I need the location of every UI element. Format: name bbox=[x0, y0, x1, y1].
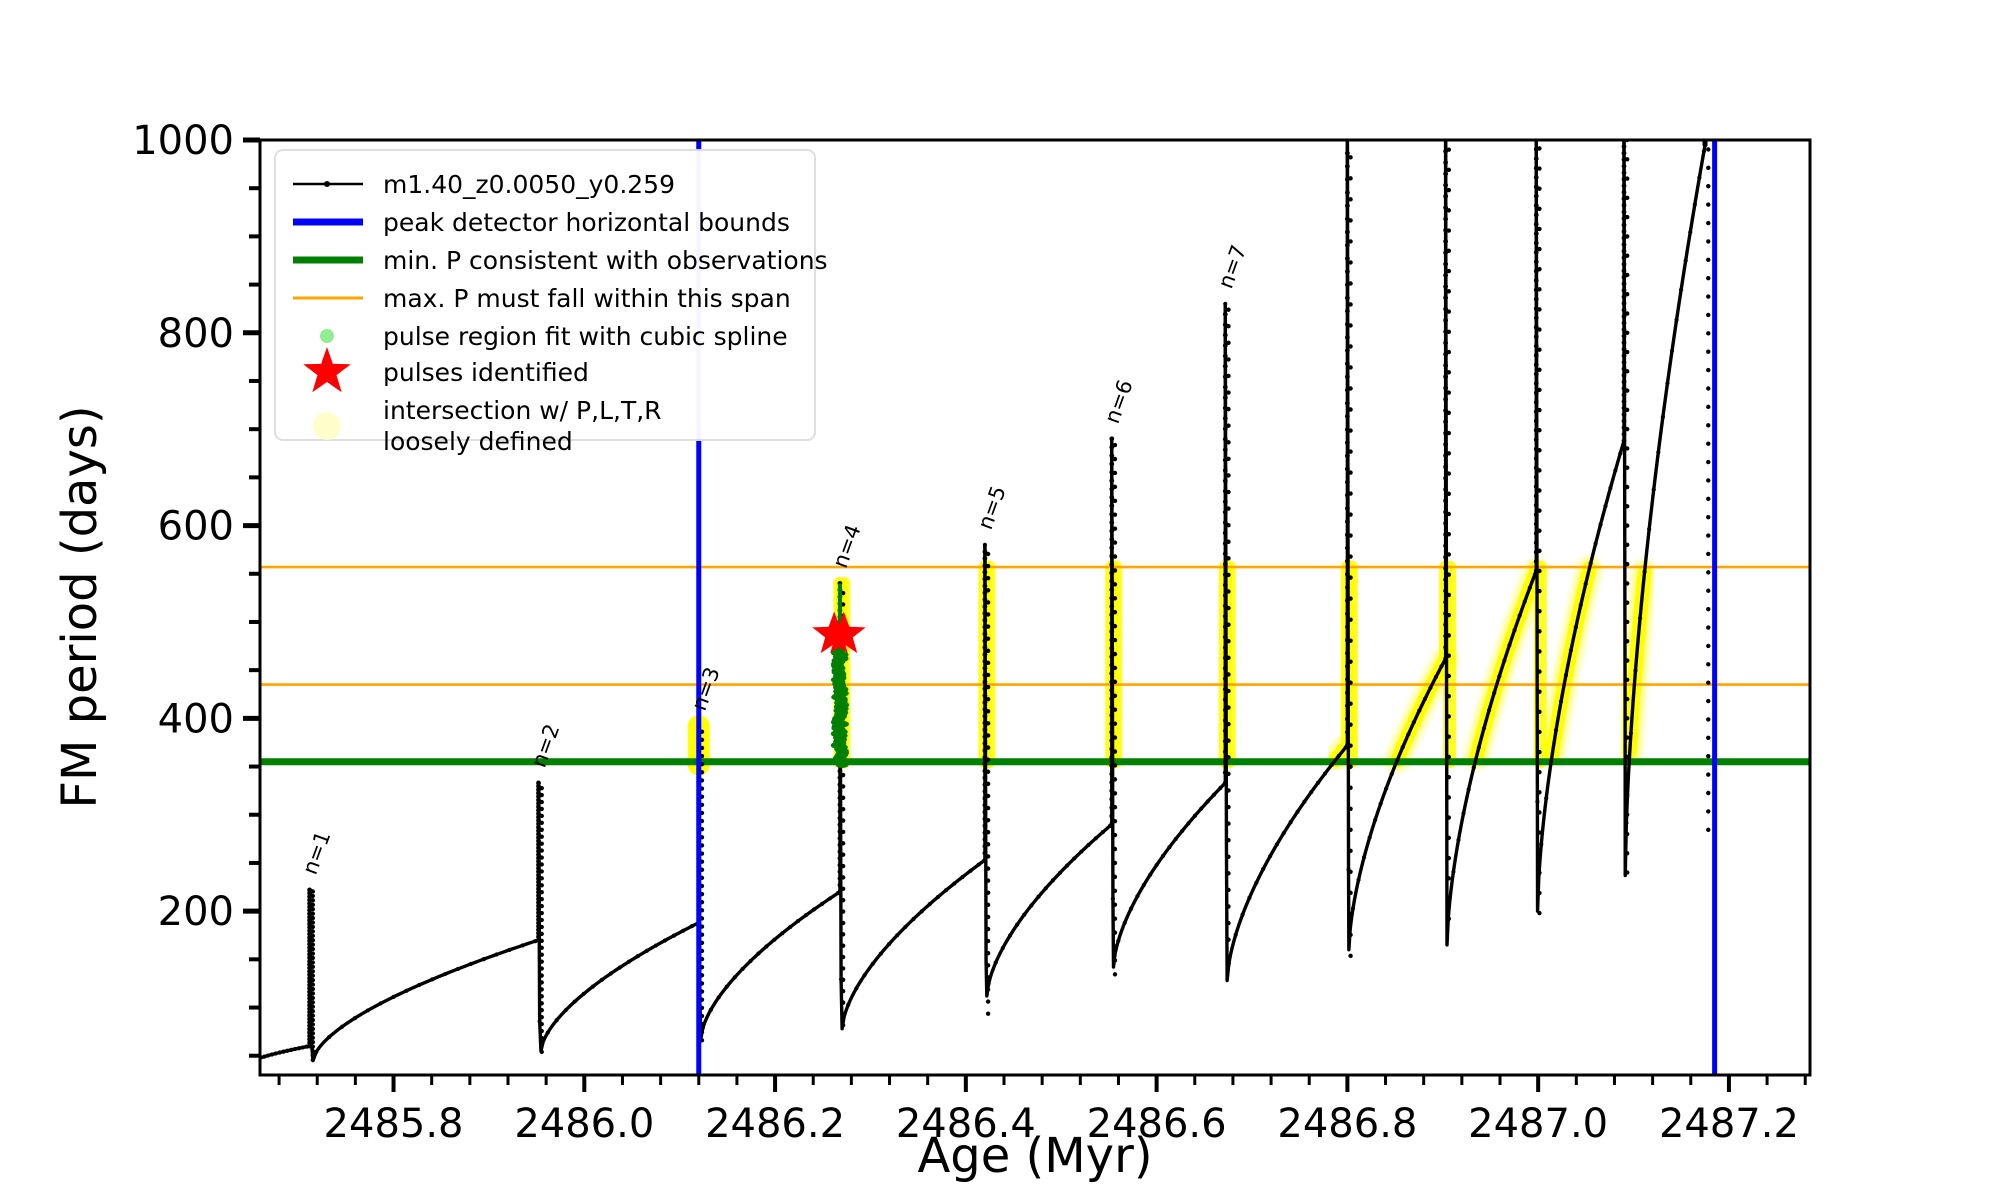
track-point bbox=[1622, 151, 1627, 156]
track-point bbox=[1447, 249, 1451, 253]
track-point bbox=[1113, 610, 1117, 614]
track-point bbox=[1661, 415, 1665, 419]
track-point bbox=[311, 907, 315, 911]
track-point bbox=[1625, 813, 1629, 817]
track-point bbox=[1706, 736, 1710, 740]
track-point bbox=[540, 786, 544, 790]
legend-marker-dot bbox=[320, 329, 334, 343]
track-point bbox=[986, 866, 990, 870]
track-point bbox=[1693, 202, 1697, 206]
track-point bbox=[1625, 331, 1629, 335]
track-point bbox=[311, 1018, 315, 1022]
track-point bbox=[311, 898, 315, 902]
legend-label[interactable]: pulse region fit with cubic spline bbox=[383, 322, 788, 351]
track-point bbox=[1706, 607, 1710, 611]
track-point bbox=[748, 959, 752, 963]
track-point bbox=[983, 714, 988, 719]
track-point bbox=[1135, 894, 1139, 898]
track-point bbox=[1625, 581, 1629, 585]
track-point bbox=[986, 661, 990, 665]
track-point bbox=[1226, 324, 1230, 328]
track-point bbox=[1447, 815, 1451, 819]
track-point bbox=[1625, 408, 1629, 412]
track-point bbox=[1434, 675, 1438, 679]
track-point bbox=[618, 965, 622, 969]
track-point bbox=[1109, 436, 1114, 441]
track-point bbox=[812, 907, 816, 911]
legend-marker-dot bbox=[324, 181, 330, 187]
track-point bbox=[540, 918, 544, 922]
legend-label[interactable]: peak detector horizontal bounds bbox=[383, 208, 790, 237]
track-point bbox=[520, 943, 524, 947]
track-point bbox=[311, 969, 315, 973]
track-point bbox=[1625, 311, 1629, 315]
track-point bbox=[1337, 754, 1341, 758]
track-point bbox=[1537, 669, 1541, 673]
track-point bbox=[278, 1050, 282, 1054]
track-point bbox=[1534, 503, 1539, 508]
track-point bbox=[977, 862, 981, 866]
track-point bbox=[1345, 374, 1350, 379]
track-point bbox=[1223, 447, 1228, 452]
track-point bbox=[1226, 805, 1230, 809]
track-point bbox=[1186, 821, 1190, 825]
track-point bbox=[1684, 258, 1688, 262]
track-point bbox=[983, 700, 988, 705]
track-point bbox=[1447, 269, 1451, 273]
track-point bbox=[353, 1016, 357, 1020]
track-point bbox=[1109, 730, 1114, 735]
track-point bbox=[1625, 253, 1629, 257]
track-point bbox=[1613, 468, 1617, 472]
track-point bbox=[1348, 407, 1352, 411]
track-point bbox=[311, 1049, 315, 1053]
track-point bbox=[311, 894, 315, 898]
track-point bbox=[1109, 520, 1114, 525]
track-point bbox=[1447, 228, 1451, 232]
track-point bbox=[1348, 659, 1352, 663]
track-point bbox=[1109, 503, 1114, 508]
track-point bbox=[1348, 554, 1352, 558]
track-point bbox=[1622, 288, 1627, 293]
track-point bbox=[1670, 349, 1674, 353]
track-point bbox=[1652, 487, 1656, 491]
track-point bbox=[841, 841, 845, 845]
track-point bbox=[1226, 904, 1230, 908]
track-point bbox=[1058, 871, 1062, 875]
track-point bbox=[311, 1031, 315, 1035]
track-point bbox=[540, 953, 544, 957]
track-point bbox=[1345, 453, 1350, 458]
track-point bbox=[1534, 512, 1539, 517]
track-point bbox=[1622, 268, 1627, 273]
track-point bbox=[1633, 669, 1637, 673]
track-point bbox=[709, 1008, 713, 1012]
track-point bbox=[1109, 671, 1114, 676]
track-point bbox=[1625, 504, 1629, 508]
track-point bbox=[1534, 344, 1539, 349]
track-point bbox=[986, 636, 990, 640]
track-point bbox=[1537, 871, 1541, 875]
track-point bbox=[1223, 333, 1228, 338]
track-point bbox=[540, 828, 544, 832]
track-point bbox=[1537, 488, 1541, 492]
track-point bbox=[986, 733, 990, 737]
track-point bbox=[1447, 451, 1451, 455]
track-point bbox=[756, 951, 760, 955]
track-point bbox=[1223, 416, 1228, 421]
track-point bbox=[1226, 705, 1230, 709]
track-point bbox=[1534, 400, 1539, 405]
track-point bbox=[983, 652, 988, 657]
track-point bbox=[564, 1008, 568, 1012]
track-point bbox=[920, 909, 924, 913]
track-point bbox=[1447, 593, 1451, 597]
track-point bbox=[1447, 775, 1451, 779]
track-point bbox=[1625, 176, 1629, 180]
track-point bbox=[1395, 758, 1399, 762]
track-point bbox=[1223, 499, 1228, 504]
track-point bbox=[690, 924, 694, 928]
track-point bbox=[1022, 913, 1026, 917]
track-point bbox=[1247, 896, 1251, 900]
track-point bbox=[1625, 196, 1629, 200]
track-point bbox=[1316, 781, 1320, 785]
track-point bbox=[1348, 870, 1352, 874]
track-point bbox=[1113, 889, 1117, 893]
x-tick-label: 2486.2 bbox=[705, 1101, 845, 1147]
track-point bbox=[1443, 386, 1448, 391]
track-point bbox=[1706, 699, 1710, 703]
track-point bbox=[1706, 828, 1710, 832]
track-point bbox=[1345, 625, 1350, 630]
track-point bbox=[1226, 639, 1230, 643]
track-point bbox=[1345, 309, 1350, 314]
track-point bbox=[1447, 694, 1451, 698]
track-point bbox=[1443, 397, 1448, 402]
track-point bbox=[1223, 749, 1228, 754]
legend-label[interactable]: max. P must fall within this span bbox=[383, 284, 791, 313]
track-point bbox=[1625, 600, 1629, 604]
track-point bbox=[1537, 247, 1541, 251]
track-point bbox=[600, 978, 604, 982]
track-point bbox=[573, 999, 577, 1003]
track-point bbox=[469, 962, 473, 966]
track-point bbox=[1226, 739, 1230, 743]
track-point bbox=[1447, 755, 1451, 759]
track-point bbox=[1706, 368, 1710, 372]
track-point bbox=[1226, 689, 1230, 693]
track-point bbox=[1537, 468, 1541, 472]
track-point bbox=[1443, 363, 1448, 368]
track-point bbox=[1226, 357, 1230, 361]
chart-legend[interactable]: m1.40_z0.0050_y0.259peak detector horizo… bbox=[275, 150, 828, 456]
track-point bbox=[1015, 923, 1019, 927]
track-point bbox=[1109, 545, 1114, 550]
track-point bbox=[1348, 281, 1352, 285]
track-point bbox=[301, 1045, 305, 1049]
legend-label-line2[interactable]: loosely defined bbox=[383, 427, 573, 456]
track-point bbox=[1223, 479, 1228, 484]
track-point bbox=[854, 986, 858, 990]
track-point bbox=[1226, 821, 1230, 825]
track-point bbox=[983, 727, 988, 732]
track-point bbox=[1549, 760, 1553, 764]
track-point bbox=[983, 837, 988, 842]
track-point bbox=[1706, 386, 1710, 390]
track-point bbox=[841, 898, 845, 902]
track-point bbox=[841, 818, 845, 822]
track-point bbox=[1226, 490, 1230, 494]
track-point bbox=[1537, 730, 1541, 734]
track-point bbox=[1544, 796, 1548, 800]
track-point bbox=[1625, 543, 1629, 547]
track-point bbox=[1226, 523, 1230, 527]
legend-label[interactable]: min. P consistent with observations bbox=[383, 246, 828, 275]
track-point bbox=[1625, 716, 1629, 720]
track-point bbox=[1447, 836, 1451, 840]
track-point bbox=[311, 978, 315, 982]
track-point bbox=[1109, 755, 1114, 760]
track-point bbox=[1523, 599, 1527, 603]
track-point bbox=[1223, 593, 1228, 598]
track-point bbox=[1534, 156, 1539, 161]
track-point bbox=[1417, 708, 1421, 712]
track-point bbox=[456, 967, 460, 971]
track-point bbox=[507, 948, 511, 952]
track-point bbox=[1447, 188, 1451, 192]
track-point bbox=[841, 1012, 845, 1016]
track-point bbox=[838, 769, 843, 774]
track-point bbox=[1447, 613, 1451, 617]
track-point bbox=[1123, 921, 1127, 925]
track-point bbox=[788, 925, 792, 929]
track-point bbox=[1113, 624, 1117, 628]
track-point bbox=[1622, 229, 1627, 234]
track-point bbox=[1113, 916, 1117, 920]
track-point bbox=[1706, 294, 1710, 298]
track-point bbox=[1348, 596, 1352, 600]
track-point bbox=[987, 982, 991, 986]
track-point bbox=[430, 977, 434, 981]
track-point bbox=[1223, 666, 1228, 671]
track-point bbox=[1223, 531, 1228, 536]
track-point bbox=[1356, 878, 1360, 882]
track-point bbox=[804, 913, 808, 917]
track-point bbox=[1226, 424, 1230, 428]
track-point bbox=[838, 802, 843, 807]
track-point bbox=[645, 949, 649, 953]
track-point bbox=[1625, 639, 1629, 643]
track-point bbox=[1507, 643, 1511, 647]
track-point bbox=[1706, 184, 1710, 188]
track-point bbox=[1451, 870, 1455, 874]
track-point bbox=[540, 841, 544, 845]
track-point bbox=[311, 938, 315, 942]
track-point bbox=[1625, 215, 1629, 219]
track-point bbox=[1589, 561, 1593, 565]
track-point bbox=[1348, 176, 1352, 180]
track-point bbox=[1537, 327, 1541, 331]
track-point bbox=[327, 1035, 331, 1039]
track-point bbox=[1113, 805, 1117, 809]
track-point bbox=[986, 915, 990, 919]
track-point bbox=[1226, 307, 1230, 311]
track-point bbox=[266, 1053, 270, 1057]
track-point bbox=[1492, 691, 1496, 695]
track-point bbox=[983, 693, 988, 698]
track-point bbox=[986, 830, 990, 834]
track-point bbox=[379, 1001, 383, 1005]
legend-label[interactable]: m1.40_z0.0050_y0.259 bbox=[383, 170, 675, 199]
track-point bbox=[1706, 791, 1710, 795]
track-point bbox=[1622, 334, 1627, 339]
track-point bbox=[986, 794, 990, 798]
track-point bbox=[841, 784, 845, 788]
track-point bbox=[1443, 284, 1448, 289]
track-point bbox=[1109, 814, 1114, 819]
track-point bbox=[1537, 227, 1541, 231]
track-point bbox=[1223, 676, 1228, 681]
track-point bbox=[960, 875, 964, 879]
track-point bbox=[1348, 512, 1352, 516]
track-point bbox=[1226, 937, 1230, 941]
track-point bbox=[1624, 821, 1628, 825]
track-point bbox=[1534, 334, 1539, 339]
y-tick-label: 600 bbox=[158, 504, 234, 550]
track-point bbox=[1348, 260, 1352, 264]
track-point bbox=[1447, 532, 1451, 536]
track-point bbox=[1109, 462, 1114, 467]
track-point bbox=[1625, 350, 1629, 354]
track-point bbox=[1348, 849, 1352, 853]
track-point bbox=[1622, 301, 1627, 306]
track-point bbox=[1443, 239, 1448, 244]
track-point bbox=[1029, 903, 1033, 907]
track-point bbox=[540, 904, 544, 908]
track-point bbox=[1622, 432, 1627, 437]
track-point bbox=[1447, 431, 1451, 435]
track-point bbox=[1223, 614, 1228, 619]
track-point bbox=[1113, 777, 1117, 781]
track-point bbox=[1537, 347, 1541, 351]
track-point bbox=[983, 584, 988, 589]
track-point bbox=[1113, 944, 1117, 948]
track-point bbox=[986, 564, 990, 568]
track-point bbox=[841, 966, 845, 970]
track-point bbox=[1109, 629, 1114, 634]
track-point bbox=[828, 896, 832, 900]
track-point bbox=[1167, 845, 1171, 849]
track-point bbox=[820, 902, 824, 906]
track-point bbox=[1443, 543, 1448, 548]
track-point bbox=[1226, 473, 1230, 477]
track-point bbox=[1688, 230, 1692, 234]
track-point bbox=[1142, 883, 1146, 887]
track-point bbox=[841, 1023, 845, 1027]
track-point bbox=[1706, 497, 1710, 501]
track-point bbox=[1447, 633, 1451, 637]
track-point bbox=[540, 855, 544, 859]
track-point bbox=[540, 1008, 544, 1012]
track-point bbox=[1537, 448, 1541, 452]
track-point bbox=[1362, 855, 1366, 859]
track-point bbox=[1706, 350, 1710, 354]
track-point bbox=[1629, 731, 1633, 735]
track-point bbox=[1579, 603, 1583, 607]
track-point bbox=[654, 943, 658, 947]
track-point bbox=[1537, 750, 1541, 754]
track-point bbox=[311, 1005, 315, 1009]
track-point bbox=[1428, 686, 1432, 690]
track-point bbox=[1348, 218, 1352, 222]
track-point bbox=[1348, 533, 1352, 537]
track-point bbox=[1212, 792, 1216, 796]
track-point bbox=[1036, 895, 1040, 899]
track-point bbox=[1223, 354, 1228, 359]
track-point bbox=[1109, 688, 1114, 693]
track-point bbox=[838, 856, 843, 861]
legend-label[interactable]: intersection w/ P,L,T,R bbox=[383, 396, 662, 425]
track-point bbox=[1113, 471, 1117, 475]
track-point bbox=[1625, 485, 1629, 489]
track-point bbox=[983, 666, 988, 671]
track-point bbox=[311, 889, 315, 893]
track-point bbox=[1447, 471, 1451, 475]
track-point bbox=[1113, 443, 1117, 447]
track-point bbox=[1373, 818, 1377, 822]
track-point bbox=[1447, 390, 1451, 394]
track-point bbox=[1598, 523, 1602, 527]
track-point bbox=[1113, 666, 1117, 670]
track-point bbox=[1706, 533, 1710, 537]
track-point bbox=[1226, 457, 1230, 461]
track-point bbox=[311, 920, 315, 924]
track-point bbox=[1323, 771, 1327, 775]
track-point bbox=[1223, 718, 1228, 723]
track-point bbox=[1079, 849, 1083, 853]
track-point bbox=[1101, 830, 1105, 834]
track-point bbox=[1534, 213, 1539, 218]
track-point bbox=[846, 1003, 850, 1007]
track-point bbox=[1148, 873, 1152, 877]
track-point bbox=[1348, 344, 1352, 348]
track-point bbox=[1447, 370, 1451, 374]
track-point bbox=[1537, 287, 1541, 291]
track-point bbox=[1348, 302, 1352, 306]
track-point bbox=[780, 931, 784, 935]
track-point bbox=[1226, 540, 1230, 544]
track-point bbox=[841, 852, 845, 856]
track-point bbox=[1226, 888, 1230, 892]
track-point bbox=[1534, 456, 1539, 461]
track-point bbox=[871, 962, 875, 966]
track-point bbox=[1226, 573, 1230, 577]
track-point bbox=[289, 1048, 293, 1052]
track-point bbox=[1537, 529, 1541, 533]
track-point bbox=[311, 1040, 315, 1044]
track-point bbox=[1044, 886, 1048, 890]
track-point bbox=[1447, 896, 1451, 900]
track-point bbox=[1345, 361, 1350, 366]
track-point bbox=[540, 932, 544, 936]
track-point bbox=[1226, 407, 1230, 411]
track-point bbox=[796, 919, 800, 923]
track-point bbox=[1622, 353, 1627, 358]
track-point bbox=[841, 955, 845, 959]
legend-label[interactable]: pulses identified bbox=[383, 358, 589, 387]
track-point bbox=[911, 917, 915, 921]
